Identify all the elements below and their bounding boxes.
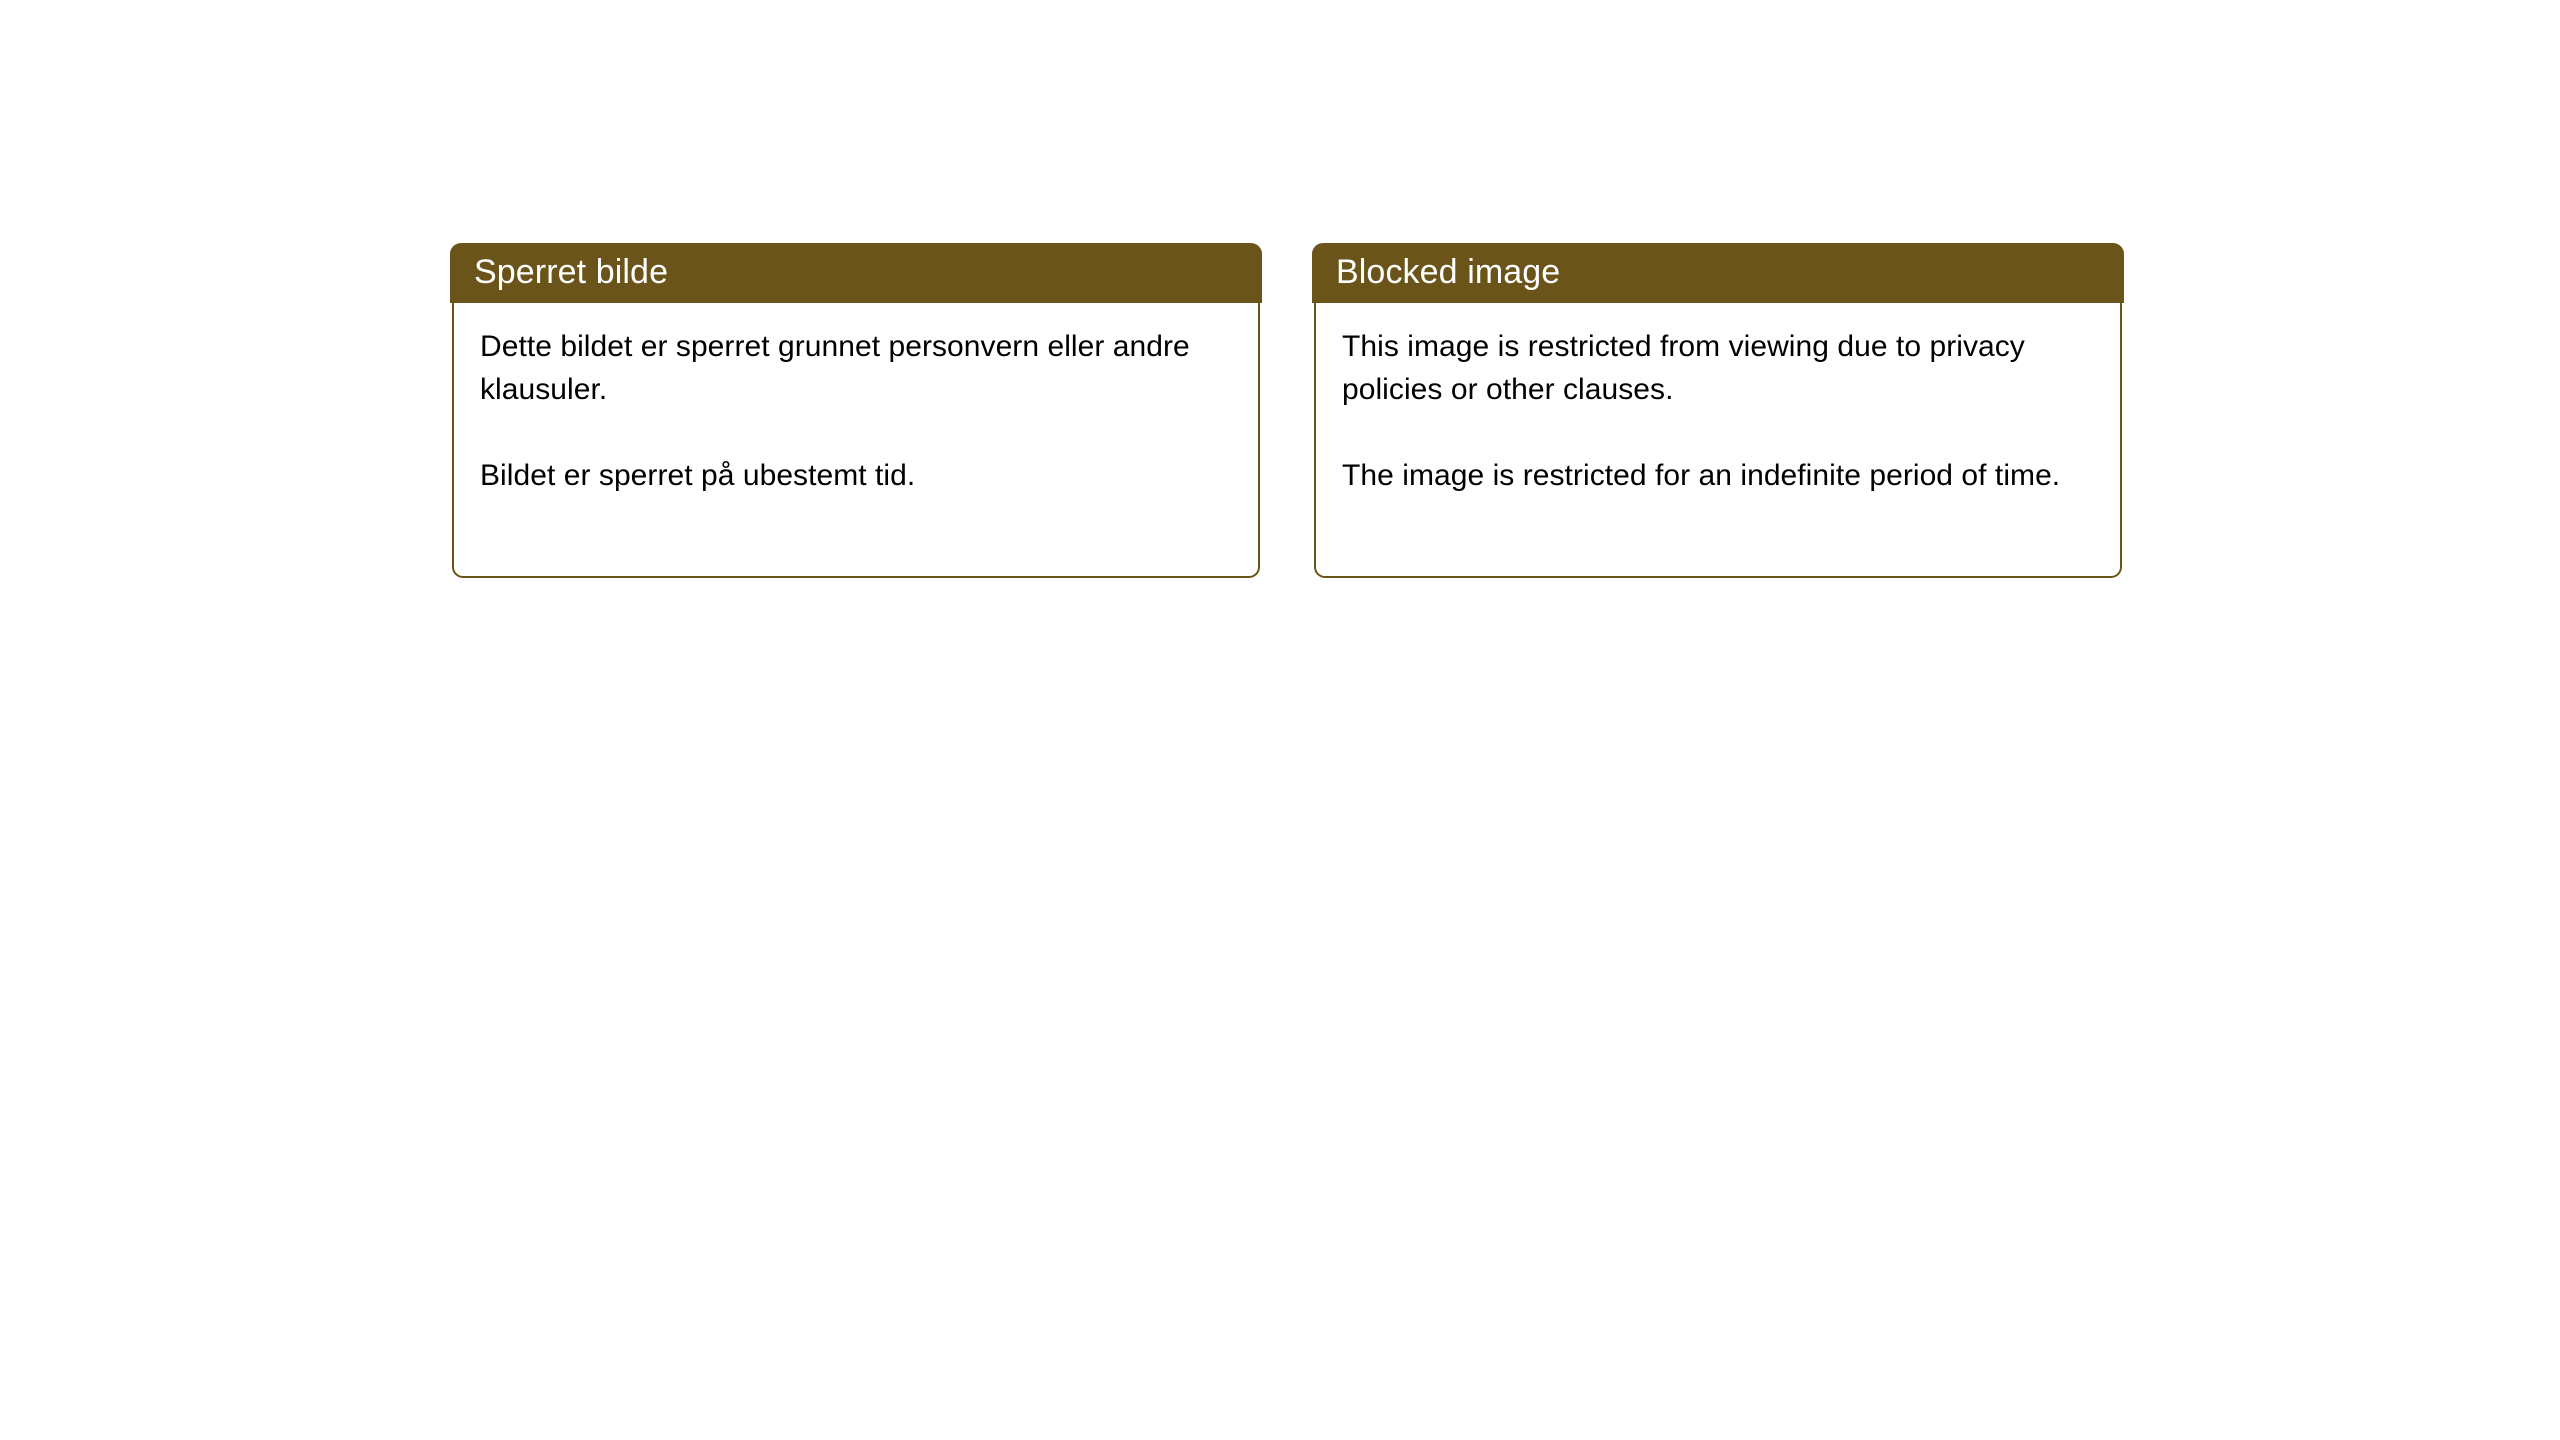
notice-title-no: Sperret bilde bbox=[474, 255, 668, 289]
notice-header-no: Sperret bilde bbox=[450, 243, 1262, 303]
blocked-image-notice-no: Sperret bilde Dette bildet er sperret gr… bbox=[452, 243, 1260, 578]
notice-paragraph-reason-no: Dette bildet er sperret grunnet personve… bbox=[480, 325, 1234, 411]
notice-body-en: This image is restricted from viewing du… bbox=[1314, 303, 2122, 578]
notice-paragraph-duration-no: Bildet er sperret på ubestemt tid. bbox=[480, 454, 1234, 497]
page-canvas: Sperret bilde Dette bildet er sperret gr… bbox=[0, 0, 2560, 1440]
notice-body-no: Dette bildet er sperret grunnet personve… bbox=[452, 303, 1260, 578]
blocked-image-notice-en: Blocked image This image is restricted f… bbox=[1314, 243, 2122, 578]
notice-header-en: Blocked image bbox=[1312, 243, 2124, 303]
notice-title-en: Blocked image bbox=[1336, 255, 1560, 289]
notice-paragraph-duration-en: The image is restricted for an indefinit… bbox=[1342, 454, 2096, 497]
notice-paragraph-reason-en: This image is restricted from viewing du… bbox=[1342, 325, 2096, 411]
